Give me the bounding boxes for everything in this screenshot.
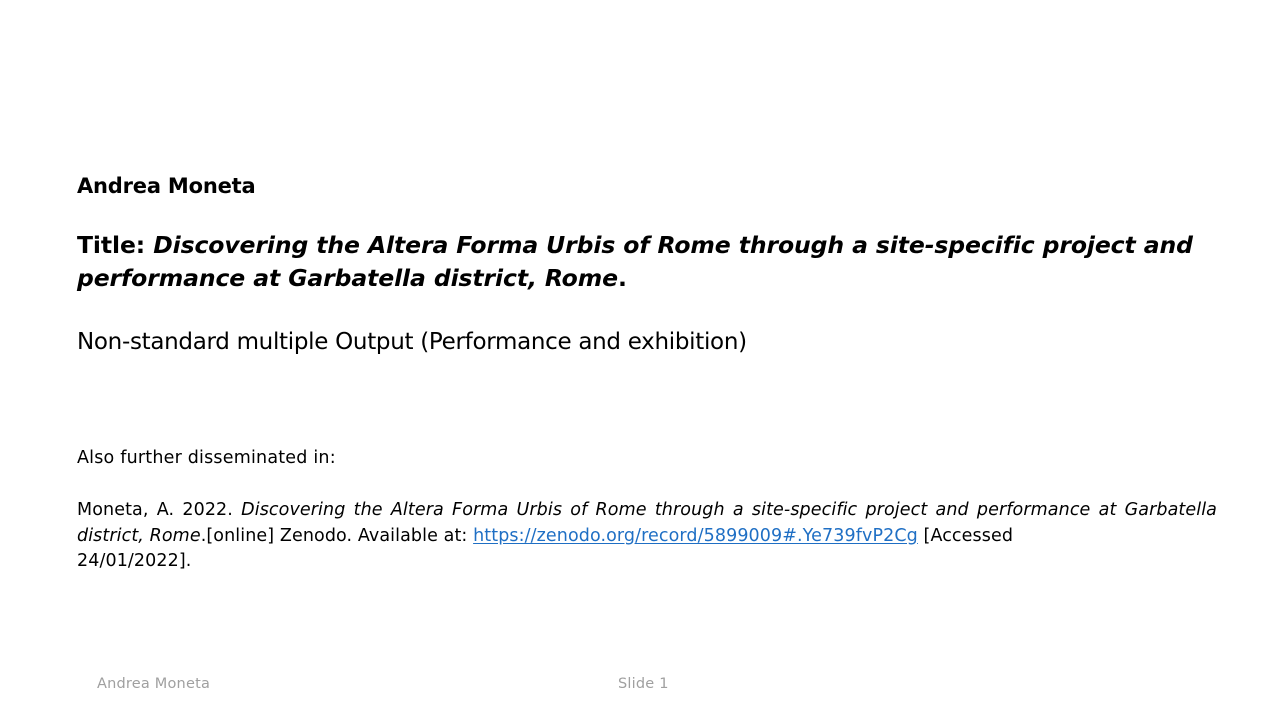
citation-accessed-open: [Accessed — [918, 526, 1013, 546]
footer-author: Andrea Moneta — [97, 676, 210, 692]
citation-prefix: Moneta, A. 2022. — [77, 500, 241, 520]
output-type-line: Non-standard multiple Output (Performanc… — [77, 328, 1217, 358]
citation-accessed-date: 24/01/2022]. — [77, 549, 1217, 575]
title-label: Title: — [77, 231, 153, 259]
zenodo-record-link[interactable]: https://zenodo.org/record/5899009#.Ye739… — [473, 526, 918, 546]
author-heading: Andrea Moneta — [77, 174, 1217, 199]
title-work-name: Discovering the Altera Forma Urbis of Ro… — [77, 231, 1193, 291]
title-block: Title: Discovering the Altera Forma Urbi… — [77, 229, 1217, 294]
title-period: . — [618, 264, 627, 292]
citation-paragraph: Moneta, A. 2022. Discovering the Altera … — [77, 498, 1217, 575]
slide-content: Andrea Moneta Title: Discovering the Alt… — [77, 174, 1217, 358]
slide-canvas: Andrea Moneta Title: Discovering the Alt… — [0, 0, 1280, 720]
citation-middle: .[online] Zenodo. Available at: — [201, 526, 473, 546]
slide-footer: Andrea Moneta Slide 1 — [0, 676, 1280, 700]
dissemination-heading: Also further disseminated in: — [77, 447, 336, 470]
footer-slide-number: Slide 1 — [618, 676, 669, 692]
